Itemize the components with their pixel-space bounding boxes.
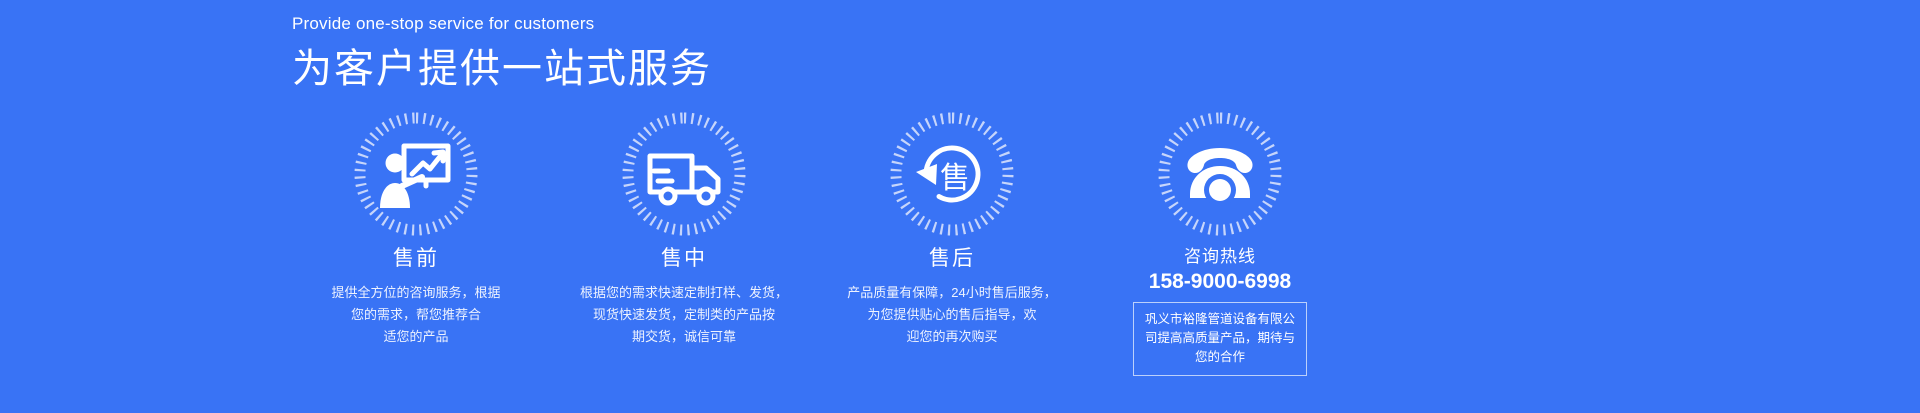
service-column-aftersale: 售 售后 产品质量有保障，24小时售后服务， 为您提供贴心的售后指导，欢 迎您的… bbox=[818, 108, 1086, 376]
insale-title: 售中 bbox=[661, 246, 707, 271]
service-column-presale: 售前 提供全方位的咨询服务，根据 您的需求，帮您推荐合 适您的产品 bbox=[282, 108, 550, 376]
aftersale-icon-wrap: 售 bbox=[886, 108, 1018, 240]
hotline-title: 咨询热线 bbox=[1184, 246, 1256, 268]
presale-icon-wrap bbox=[350, 108, 482, 240]
aftersale-description: 产品质量有保障，24小时售后服务， 为您提供贴心的售后指导，欢 迎您的再次购买 bbox=[847, 282, 1056, 348]
service-columns: 售前 提供全方位的咨询服务，根据 您的需求，帮您推荐合 适您的产品 bbox=[282, 108, 1572, 376]
promo-banner: Provide one-stop service for customers 为… bbox=[0, 0, 1920, 413]
company-info-line-1: 巩义市裕隆管道设备有限公 bbox=[1144, 310, 1296, 329]
presale-title: 售前 bbox=[393, 246, 439, 271]
eyebrow-text: Provide one-stop service for customers bbox=[292, 14, 712, 34]
company-info-line-2: 司提高高质量产品，期待与 bbox=[1144, 329, 1296, 348]
hotline-icon-wrap bbox=[1154, 108, 1286, 240]
service-column-insale: 售中 根据您的需求快速定制打样、发货， 现货快速发货，定制类的产品按 期交货，诚… bbox=[550, 108, 818, 376]
aftersale-title: 售后 bbox=[929, 246, 975, 271]
insale-desc-line-3: 期交货，诚信可靠 bbox=[580, 326, 788, 348]
presale-description: 提供全方位的咨询服务，根据 您的需求，帮您推荐合 适您的产品 bbox=[331, 282, 500, 348]
service-column-hotline: 咨询热线 158-9000-6998 巩义市裕隆管道设备有限公 司提高高质量产品… bbox=[1086, 108, 1354, 376]
insale-desc-line-2: 现货快速发货，定制类的产品按 bbox=[580, 304, 788, 326]
presale-desc-line-3: 适您的产品 bbox=[331, 326, 500, 348]
aftersale-desc-line-1: 产品质量有保障，24小时售后服务， bbox=[847, 282, 1056, 304]
heading-block: Provide one-stop service for customers 为… bbox=[292, 14, 712, 94]
presentation-chart-icon bbox=[374, 132, 458, 216]
presale-desc-line-1: 提供全方位的咨询服务，根据 bbox=[331, 282, 500, 304]
aftersale-desc-line-2: 为您提供贴心的售后指导，欢 bbox=[847, 304, 1056, 326]
insale-desc-line-1: 根据您的需求快速定制打样、发货， bbox=[580, 282, 788, 304]
company-info-line-3: 您的合作 bbox=[1144, 348, 1296, 367]
aftersale-glyph-char: 售 bbox=[940, 161, 970, 196]
hotline-phone-number[interactable]: 158-9000-6998 bbox=[1149, 269, 1291, 295]
telephone-icon bbox=[1178, 132, 1262, 216]
delivery-truck-icon bbox=[642, 132, 726, 216]
insale-icon-wrap bbox=[618, 108, 750, 240]
page-title: 为客户提供一站式服务 bbox=[292, 44, 712, 94]
after-sales-refresh-icon: 售 bbox=[910, 132, 994, 216]
insale-description: 根据您的需求快速定制打样、发货， 现货快速发货，定制类的产品按 期交货，诚信可靠 bbox=[580, 282, 788, 348]
aftersale-desc-line-3: 迎您的再次购买 bbox=[847, 326, 1056, 348]
presale-desc-line-2: 您的需求，帮您推荐合 bbox=[331, 304, 500, 326]
company-info-box: 巩义市裕隆管道设备有限公 司提高高质量产品，期待与 您的合作 bbox=[1133, 302, 1307, 376]
